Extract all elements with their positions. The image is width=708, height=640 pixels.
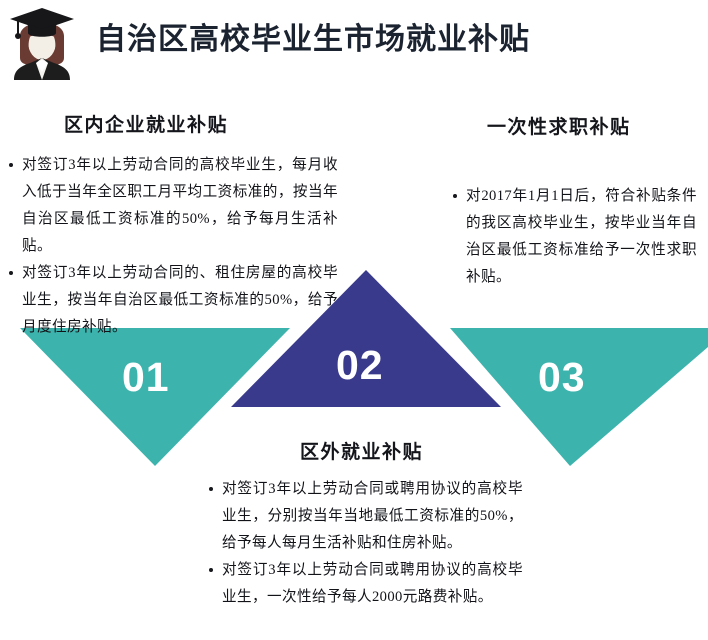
list-item-text: 对签订3年以上劳动合同或聘用协议的高校毕业生，一次性给予每人2000元路费补贴。	[222, 562, 523, 605]
page-title: 自治区高校毕业生市场就业补贴	[96, 14, 530, 58]
section-body-right: 对2017年1月1日后，符合补贴条件的我区高校毕业生，按毕业当年自治区最低工资标…	[452, 183, 697, 291]
list-item: 对签订3年以上劳动合同的高校毕业生，每月收入低于当年全区职工月平均工资标准的，按…	[8, 152, 338, 260]
list-item-text: 对签订3年以上劳动合同的、租住房屋的高校毕业生，按当年自治区最低工资标准的50%…	[22, 265, 338, 335]
list-item: 对签订3年以上劳动合同或聘用协议的高校毕业生，分别按当年当地最低工资标准的50%…	[208, 476, 523, 557]
header: 自治区高校毕业生市场就业补贴	[0, 0, 708, 86]
list-item: 对2017年1月1日后，符合补贴条件的我区高校毕业生，按毕业当年自治区最低工资标…	[452, 183, 697, 291]
graduate-avatar-icon	[6, 6, 78, 80]
list-item: 对签订3年以上劳动合同的、租住房屋的高校毕业生，按当年自治区最低工资标准的50%…	[8, 260, 338, 341]
infographic-root: 自治区高校毕业生市场就业补贴 01 02 03 区内企业就业补贴 对签订3年以上…	[0, 0, 708, 640]
bullet-dot-icon	[9, 163, 13, 167]
bullet-dot-icon	[209, 568, 213, 572]
list-item-text: 对签订3年以上劳动合同或聘用协议的高校毕业生，分别按当年当地最低工资标准的50%…	[222, 481, 523, 551]
bullet-dot-icon	[453, 194, 457, 198]
section-heading-right: 一次性求职补贴	[487, 112, 631, 139]
step-number-01: 01	[122, 357, 170, 398]
step-number-03: 03	[538, 357, 586, 398]
bullet-dot-icon	[9, 271, 13, 275]
section-heading-left: 区内企业就业补贴	[64, 110, 228, 137]
section-body-left: 对签订3年以上劳动合同的高校毕业生，每月收入低于当年全区职工月平均工资标准的，按…	[8, 152, 338, 341]
section-body-bottom: 对签订3年以上劳动合同或聘用协议的高校毕业生，分别按当年当地最低工资标准的50%…	[208, 476, 523, 611]
section-heading-bottom: 区外就业补贴	[300, 437, 423, 464]
step-number-02: 02	[336, 345, 384, 386]
list-item: 对签订3年以上劳动合同或聘用协议的高校毕业生，一次性给予每人2000元路费补贴。	[208, 557, 523, 611]
bullet-dot-icon	[209, 487, 213, 491]
list-item-text: 对2017年1月1日后，符合补贴条件的我区高校毕业生，按毕业当年自治区最低工资标…	[466, 188, 697, 285]
list-item-text: 对签订3年以上劳动合同的高校毕业生，每月收入低于当年全区职工月平均工资标准的，按…	[22, 157, 338, 254]
